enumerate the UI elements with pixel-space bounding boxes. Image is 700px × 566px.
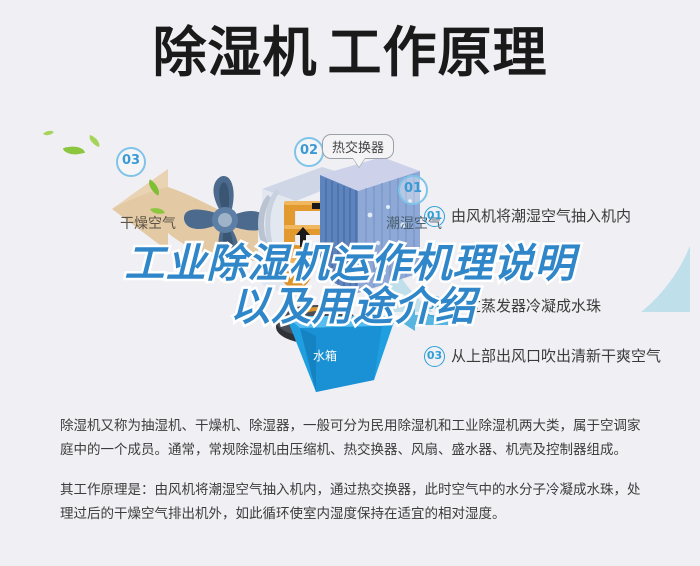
description-paragraph-2: 其工作原理是：由风机将潮湿空气抽入机内，通过热交换器，此时空气中的水分子冷凝成水…	[60, 478, 650, 526]
diagram-number-02: 02	[294, 137, 324, 167]
step-caption-02: 02经过蒸发器冷凝成水珠	[424, 295, 601, 317]
step-number-01: 01	[424, 206, 445, 227]
step-text-02: 经过蒸发器冷凝成水珠	[451, 297, 601, 315]
leaf-icon	[87, 135, 102, 147]
diagram-number-01: 01	[398, 175, 428, 205]
diagram-number-03: 03	[116, 147, 146, 177]
step-caption-01: 01由风机将潮湿空气抽入机内	[424, 205, 631, 227]
description-block: 除湿机又称为抽湿机、干燥机、除湿器，一般可分为民用除湿机和工业除湿机两大类，属于…	[60, 414, 650, 526]
heat-exchanger-callout: 热交换器	[322, 134, 394, 159]
leaf-icon	[43, 128, 54, 138]
step-caption-03: 03从上部出风口吹出清新干爽空气	[424, 345, 661, 367]
description-paragraph-1: 除湿机又称为抽湿机、干燥机、除湿器，一般可分为民用除湿机和工业除湿机两大类，属于…	[60, 414, 650, 462]
dry-air-label: 干燥空气	[120, 213, 176, 233]
page-title-part1: 除湿机	[153, 24, 318, 82]
step-number-03: 03	[424, 346, 445, 367]
page-title-part2: 工作原理	[328, 24, 548, 82]
dehumidifier-diagram: 03 02 01 热交换器 干燥空气 潮湿空气 水箱	[0, 125, 700, 410]
step-number-02: 02	[424, 296, 445, 317]
step-text-01: 由风机将潮湿空气抽入机内	[451, 207, 631, 225]
step-text-03: 从上部出风口吹出清新干爽空气	[451, 347, 661, 365]
page-root: 除湿机工作原理	[0, 0, 700, 566]
page-title: 除湿机工作原理	[0, 24, 700, 82]
